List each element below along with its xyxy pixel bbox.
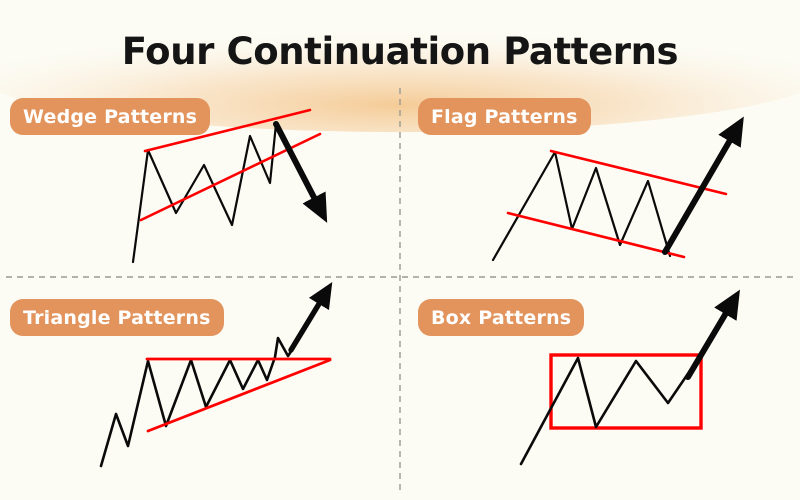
triangle-rising-trendline	[148, 360, 330, 431]
flag-price-line	[493, 152, 670, 260]
wedge-lower-trendline	[141, 134, 320, 220]
box-breakout-arrow	[688, 303, 732, 377]
graphics-layer	[0, 0, 800, 500]
infographic-canvas: Four Continuation Patterns Wedge Pattern…	[0, 0, 800, 500]
panel-label-wedge: Wedge Patterns	[10, 98, 210, 135]
wedge-price-line	[133, 124, 276, 262]
panel-label-flag: Flag Patterns	[418, 98, 591, 135]
triangle-price-line	[101, 338, 294, 466]
box-price-line	[521, 356, 700, 464]
panel-flag-graphic	[493, 130, 736, 260]
panel-label-triangle: Triangle Patterns	[10, 299, 224, 336]
triangle-breakout-arrow	[291, 294, 325, 350]
flag-lower-trendline	[508, 213, 684, 257]
page-title: Four Continuation Patterns	[0, 30, 800, 73]
panel-label-box: Box Patterns	[418, 299, 584, 336]
flag-breakout-arrow	[665, 130, 736, 252]
